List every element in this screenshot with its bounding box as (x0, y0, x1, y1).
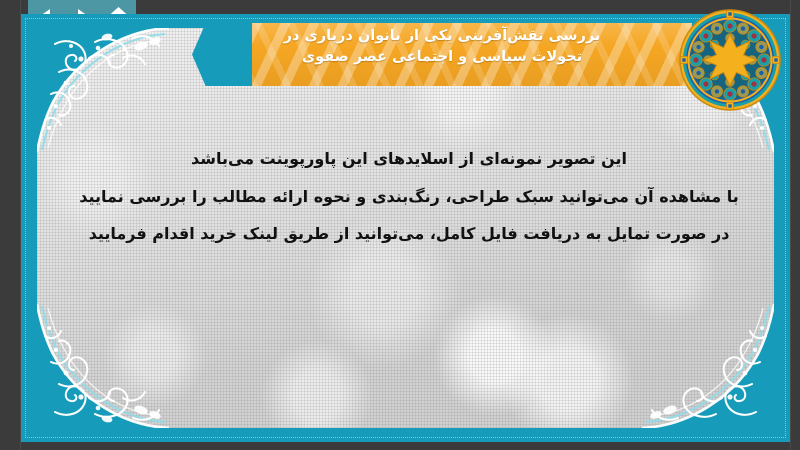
body-line-2: با مشاهده آن می‌توانید سبک طراحی، رنگ‌بن… (59, 178, 759, 216)
slide-body-text: این تصویر نمونه‌ای از اسلایدهای این پاور… (59, 140, 759, 253)
body-line-1: این تصویر نمونه‌ای از اسلایدهای این پاور… (59, 140, 759, 178)
title-line-1: بررسی نقش‌آفرینی یکی از بانوان درباری در (284, 26, 601, 47)
body-line-3: در صورت تمایل به دریافت فایل کامل، می‌تو… (59, 215, 759, 253)
title-banner: بررسی نقش‌آفرینی یکی از بانوان درباری در… (192, 8, 692, 86)
slide-viewer: این تصویر نمونه‌ای از اسلایدهای این پاور… (0, 0, 800, 450)
title-line-2: تحولات سیاسی و اجتماعی عصر صفوی (302, 47, 582, 68)
backdrop-seam-right (790, 0, 791, 450)
persian-medallion-icon (678, 8, 782, 112)
slide-title: بررسی نقش‌آفرینی یکی از بانوان درباری در… (192, 8, 692, 86)
